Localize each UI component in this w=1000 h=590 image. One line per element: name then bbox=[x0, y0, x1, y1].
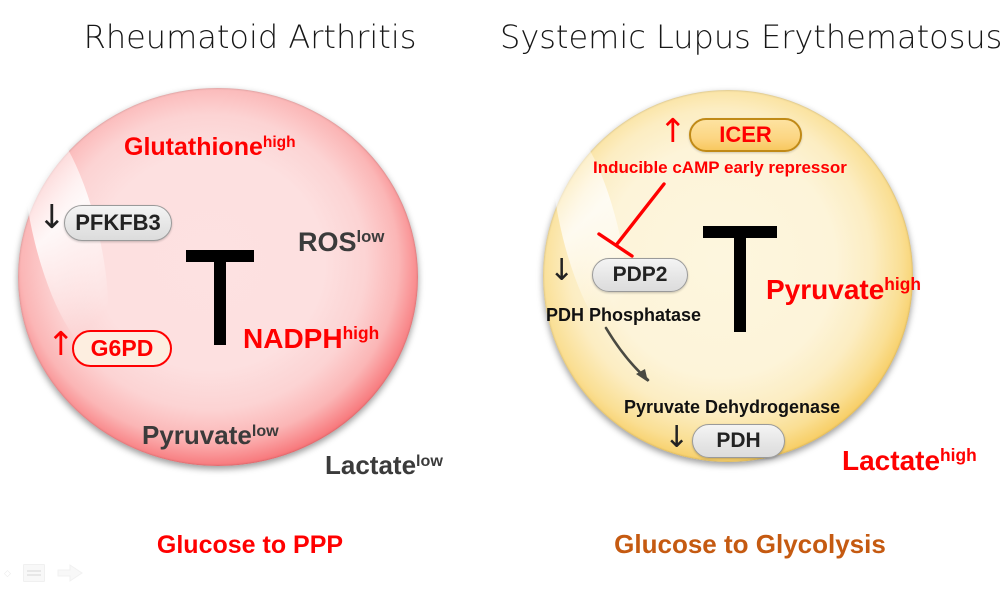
label-glutathione-sup: high bbox=[263, 134, 296, 151]
node-pdh[interactable]: PDH bbox=[692, 424, 785, 458]
label-pyruvate: Pyruvatelow bbox=[142, 422, 279, 448]
next-arrow-icon[interactable] bbox=[57, 564, 83, 582]
node-icer[interactable]: ICER bbox=[689, 118, 802, 152]
caption-glucose-to-ppp: Glucose to PPP bbox=[0, 533, 500, 558]
label-pyruvate-sle-text: Pyruvate bbox=[766, 274, 884, 305]
label-ros-text: ROS bbox=[298, 227, 357, 257]
page-title-rheumatoid-arthritis: Rheumatoid Arthritis bbox=[0, 18, 500, 56]
label-glutathione-text: Glutathione bbox=[124, 133, 263, 161]
label-pyruvate-sle-sup: high bbox=[884, 274, 921, 294]
label-glutathione: Glutathionehigh bbox=[124, 135, 296, 160]
node-g6pd-label: G6PD bbox=[91, 335, 154, 362]
node-pdp2[interactable]: PDP2 bbox=[592, 258, 688, 292]
panel-rheumatoid-arthritis: Rheumatoid Arthritis Glutathionehigh ↓ P… bbox=[0, 0, 500, 590]
label-lactate-sle-text: Lactate bbox=[842, 445, 940, 476]
label-nadph: NADPHhigh bbox=[243, 325, 379, 353]
caption-glucose-to-glycolysis: Glucose to Glycolysis bbox=[500, 531, 1000, 557]
label-lactate: Lactatelow bbox=[325, 452, 443, 478]
inhibition-stem-ra bbox=[214, 260, 226, 345]
activation-arrow-pdp2-pdh bbox=[598, 322, 668, 398]
label-nadph-text: NADPH bbox=[243, 323, 343, 354]
up-arrow-icon-icer: ↑ bbox=[659, 114, 687, 147]
node-pdp2-label: PDP2 bbox=[613, 263, 668, 287]
label-pyruvate-dehydrogenase: Pyruvate Dehydrogenase bbox=[624, 398, 840, 416]
inhibition-stem-sle bbox=[734, 236, 746, 332]
label-pyruvate-sup: low bbox=[252, 422, 279, 440]
node-pfkfb3-label: PFKFB3 bbox=[75, 210, 161, 236]
slide-control-dot: ◇ bbox=[4, 569, 11, 578]
label-ros: ROSlow bbox=[298, 229, 384, 256]
label-pyruvate-text: Pyruvate bbox=[142, 420, 252, 450]
slide-controls[interactable]: ◇ bbox=[4, 564, 83, 582]
up-arrow-icon-g6pd: ↑ bbox=[47, 327, 75, 360]
down-arrow-icon-pfkfb3: ↓ bbox=[38, 200, 66, 233]
label-lactate-sle-sup: high bbox=[940, 445, 977, 465]
page-title-systemic-lupus-erythematosus: Systemic Lupus Erythematosus bbox=[500, 18, 1000, 56]
down-arrow-icon-pdh: ↓ bbox=[664, 423, 689, 453]
label-nadph-sup: high bbox=[343, 323, 380, 343]
menu-icon[interactable] bbox=[23, 564, 45, 582]
label-lactate-text: Lactate bbox=[325, 450, 416, 480]
down-arrow-icon-pdp2: ↓ bbox=[549, 256, 574, 286]
label-pyruvate-sle: Pyruvatehigh bbox=[766, 276, 921, 304]
node-icer-label: ICER bbox=[719, 122, 772, 148]
node-pdh-label: PDH bbox=[716, 429, 760, 453]
node-pfkfb3[interactable]: PFKFB3 bbox=[64, 205, 172, 241]
label-lactate-sle: Lactatehigh bbox=[842, 447, 977, 475]
inhibition-connector-icer-pdp2 bbox=[595, 172, 685, 262]
node-g6pd[interactable]: G6PD bbox=[72, 330, 172, 367]
label-lactate-sup: low bbox=[416, 452, 443, 470]
label-ros-sup: low bbox=[357, 227, 385, 246]
